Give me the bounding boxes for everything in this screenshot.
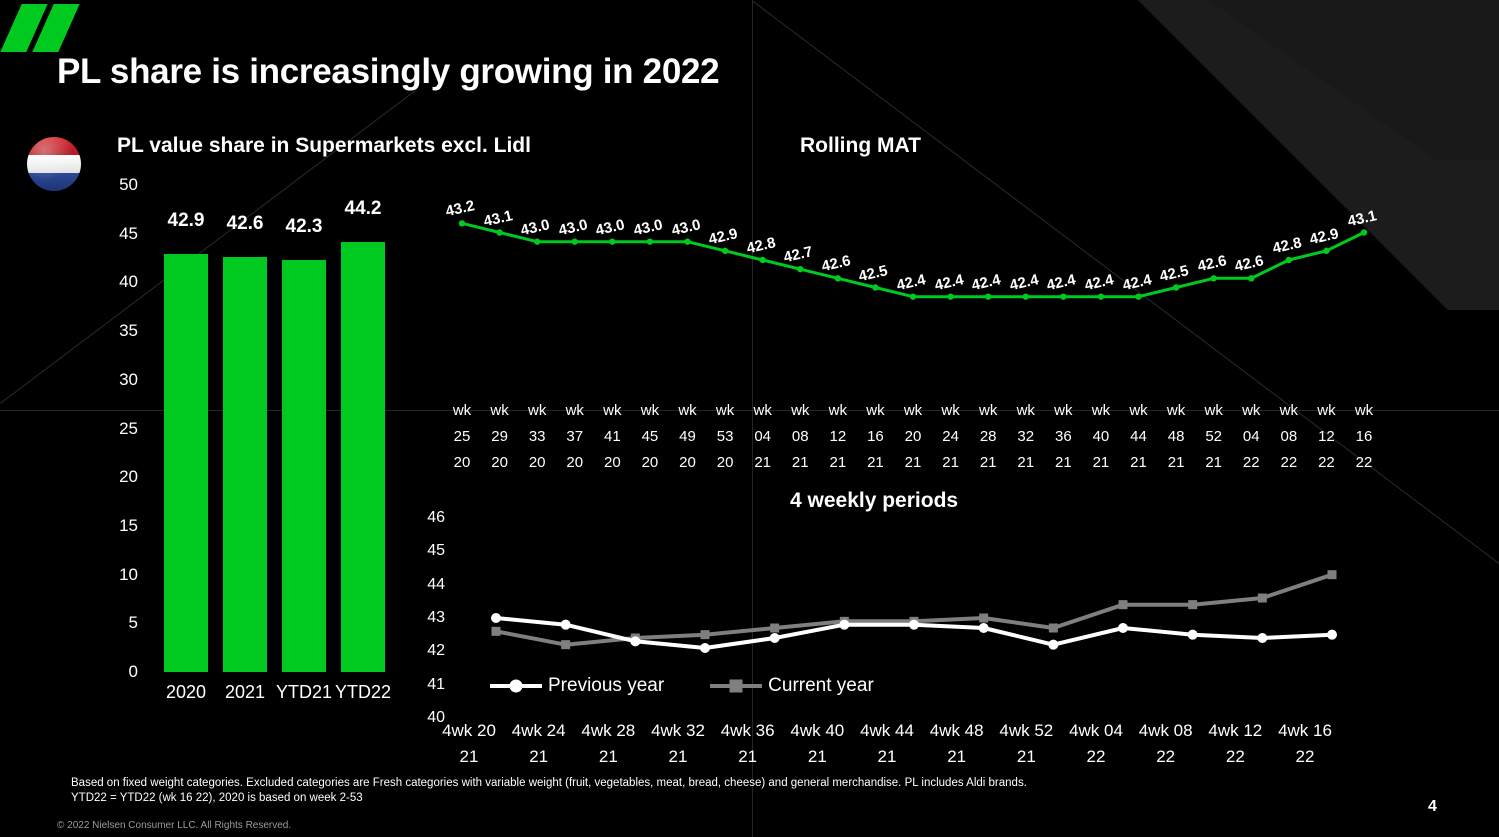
bar-category-label: 2021	[225, 682, 265, 703]
page-title: PL share is increasingly growing in 2022	[57, 52, 719, 92]
bar-value-label: 42.3	[286, 216, 323, 238]
nielsen-logo-icon	[7, 4, 79, 52]
four-weekly-y-tick: 44	[415, 576, 445, 594]
bar-rect	[164, 254, 208, 672]
mat-data-point[interactable]	[647, 238, 653, 244]
bar-y-tick: 0	[104, 662, 138, 682]
bar-y-tick: 25	[104, 419, 138, 439]
bar-value-label: 42.6	[227, 213, 264, 235]
page-number: 4	[1428, 798, 1437, 816]
four-weekly-data-point[interactable]	[701, 630, 710, 639]
footnote: Based on fixed weight categories. Exclud…	[71, 776, 1291, 806]
mat-data-point[interactable]	[1023, 293, 1029, 299]
mat-data-point[interactable]	[1098, 293, 1104, 299]
decorative-corner-wedge-secondary	[1199, 0, 1499, 160]
bar-chart-heading: PL value share in Supermarkets excl. Lid…	[117, 134, 531, 158]
mat-data-point[interactable]	[1248, 275, 1254, 281]
bar-y-tick: 5	[104, 613, 138, 633]
four-weekly-data-point[interactable]	[630, 636, 640, 646]
legend-label: Current year	[768, 675, 874, 697]
four-weekly-data-point[interactable]	[770, 624, 779, 633]
mat-data-point[interactable]	[722, 248, 728, 254]
footnote-line-2: YTD22 = YTD22 (wk 16 22), 2020 is based …	[71, 791, 1291, 806]
four-weekly-data-point[interactable]	[1048, 640, 1058, 650]
four-weekly-y-tick: 41	[415, 676, 445, 694]
four-weekly-data-point[interactable]	[1328, 570, 1337, 579]
four-weekly-data-point[interactable]	[839, 620, 849, 630]
four-weekly-data-point[interactable]	[909, 620, 919, 630]
legend-item[interactable]: Previous year	[490, 675, 664, 697]
four-weekly-data-point[interactable]	[770, 633, 780, 643]
bar-y-tick: 15	[104, 516, 138, 536]
chart-legend: Previous yearCurrent year	[490, 675, 874, 697]
mat-tick-label: wk1622	[1342, 398, 1386, 476]
four-weekly-y-tick: 42	[415, 642, 445, 660]
bar-y-tick: 40	[104, 272, 138, 292]
mat-data-point[interactable]	[835, 275, 841, 281]
four-weekly-data-point[interactable]	[1188, 600, 1197, 609]
four-weekly-y-tick: 43	[415, 609, 445, 627]
four-weekly-data-point[interactable]	[561, 640, 570, 649]
bar-rect	[223, 257, 267, 672]
four-weekly-x-axis: 4wk 20214wk 24214wk 28214wk 32214wk 3621…	[460, 718, 1378, 773]
mat-data-point[interactable]	[1286, 257, 1292, 263]
bar-y-tick: 45	[104, 224, 138, 244]
legend-marker-circle-icon	[490, 684, 542, 688]
mat-data-point[interactable]	[1060, 293, 1066, 299]
mat-data-point[interactable]	[947, 293, 953, 299]
four-weekly-data-point[interactable]	[491, 613, 501, 623]
mat-data-point[interactable]	[1173, 284, 1179, 290]
bar-category-label: YTD22	[335, 682, 391, 703]
mat-data-point[interactable]	[684, 238, 690, 244]
mat-data-point[interactable]	[459, 220, 465, 226]
four-weekly-tick-label: 4wk 1622	[1260, 718, 1350, 770]
bar-chart: 42.9202042.6202142.3YTD2144.2YTD22 05101…	[100, 185, 420, 710]
bar-y-tick: 10	[104, 565, 138, 585]
mat-data-point[interactable]	[759, 257, 765, 263]
bar-value-label: 44.2	[345, 198, 382, 220]
mat-x-axis: wk2520wk2920wk3320wk3720wk4120wk4520wk49…	[448, 398, 1378, 473]
mat-data-point[interactable]	[910, 293, 916, 299]
mat-data-point[interactable]	[1361, 229, 1367, 235]
mat-data-point[interactable]	[1323, 248, 1329, 254]
legend-item[interactable]: Current year	[710, 675, 874, 697]
bar-plot-area: 42.9202042.6202142.3YTD2144.2YTD22	[152, 185, 420, 672]
rolling-mat-line-chart: 43.243.143.043.043.043.043.042.942.842.7…	[448, 205, 1378, 315]
four-weekly-data-point[interactable]	[1257, 633, 1267, 643]
mat-data-point[interactable]	[1210, 275, 1216, 281]
four-weekly-data-point[interactable]	[979, 614, 988, 623]
four-weekly-data-point[interactable]	[561, 620, 571, 630]
bar-category-label: YTD21	[276, 682, 332, 703]
four-weekly-data-point[interactable]	[1118, 623, 1128, 633]
mat-data-point[interactable]	[572, 238, 578, 244]
legend-marker-square-icon	[710, 684, 762, 688]
mat-data-point[interactable]	[872, 284, 878, 290]
mat-data-point[interactable]	[1135, 293, 1141, 299]
bar-rect	[282, 260, 326, 672]
bar-y-tick: 50	[104, 175, 138, 195]
slide-canvas: PL share is increasingly growing in 2022…	[0, 0, 1499, 837]
four-weekly-data-point[interactable]	[1049, 624, 1058, 633]
four-weekly-data-point[interactable]	[700, 643, 710, 653]
mat-data-point[interactable]	[534, 238, 540, 244]
mat-chart-heading: Rolling MAT	[800, 134, 921, 158]
bar-y-tick: 20	[104, 467, 138, 487]
bar-category-label: 2020	[166, 682, 206, 703]
four-weekly-data-point[interactable]	[1188, 630, 1198, 640]
four-weekly-data-point[interactable]	[1119, 600, 1128, 609]
four-weekly-data-point[interactable]	[1258, 594, 1267, 603]
four-weekly-y-tick: 45	[415, 542, 445, 560]
legend-label: Previous year	[548, 675, 664, 697]
netherlands-flag-icon	[27, 137, 81, 191]
bar-y-tick: 35	[104, 321, 138, 341]
period-chart-heading: 4 weekly periods	[790, 489, 958, 513]
mat-data-point[interactable]	[496, 229, 502, 235]
bar-y-tick: 30	[104, 370, 138, 390]
copyright-text: © 2022 Nielsen Consumer LLC. All Rights …	[57, 820, 291, 831]
bar-rect	[341, 242, 385, 673]
mat-data-point[interactable]	[985, 293, 991, 299]
four-weekly-data-point[interactable]	[1327, 630, 1337, 640]
four-weekly-y-tick: 46	[415, 509, 445, 527]
footnote-line-1: Based on fixed weight categories. Exclud…	[71, 776, 1291, 791]
bar-value-label: 42.9	[168, 210, 205, 232]
mat-data-point[interactable]	[609, 238, 615, 244]
mat-data-point[interactable]	[797, 266, 803, 272]
four-weekly-data-point[interactable]	[492, 627, 501, 636]
four-weekly-data-point[interactable]	[979, 623, 989, 633]
